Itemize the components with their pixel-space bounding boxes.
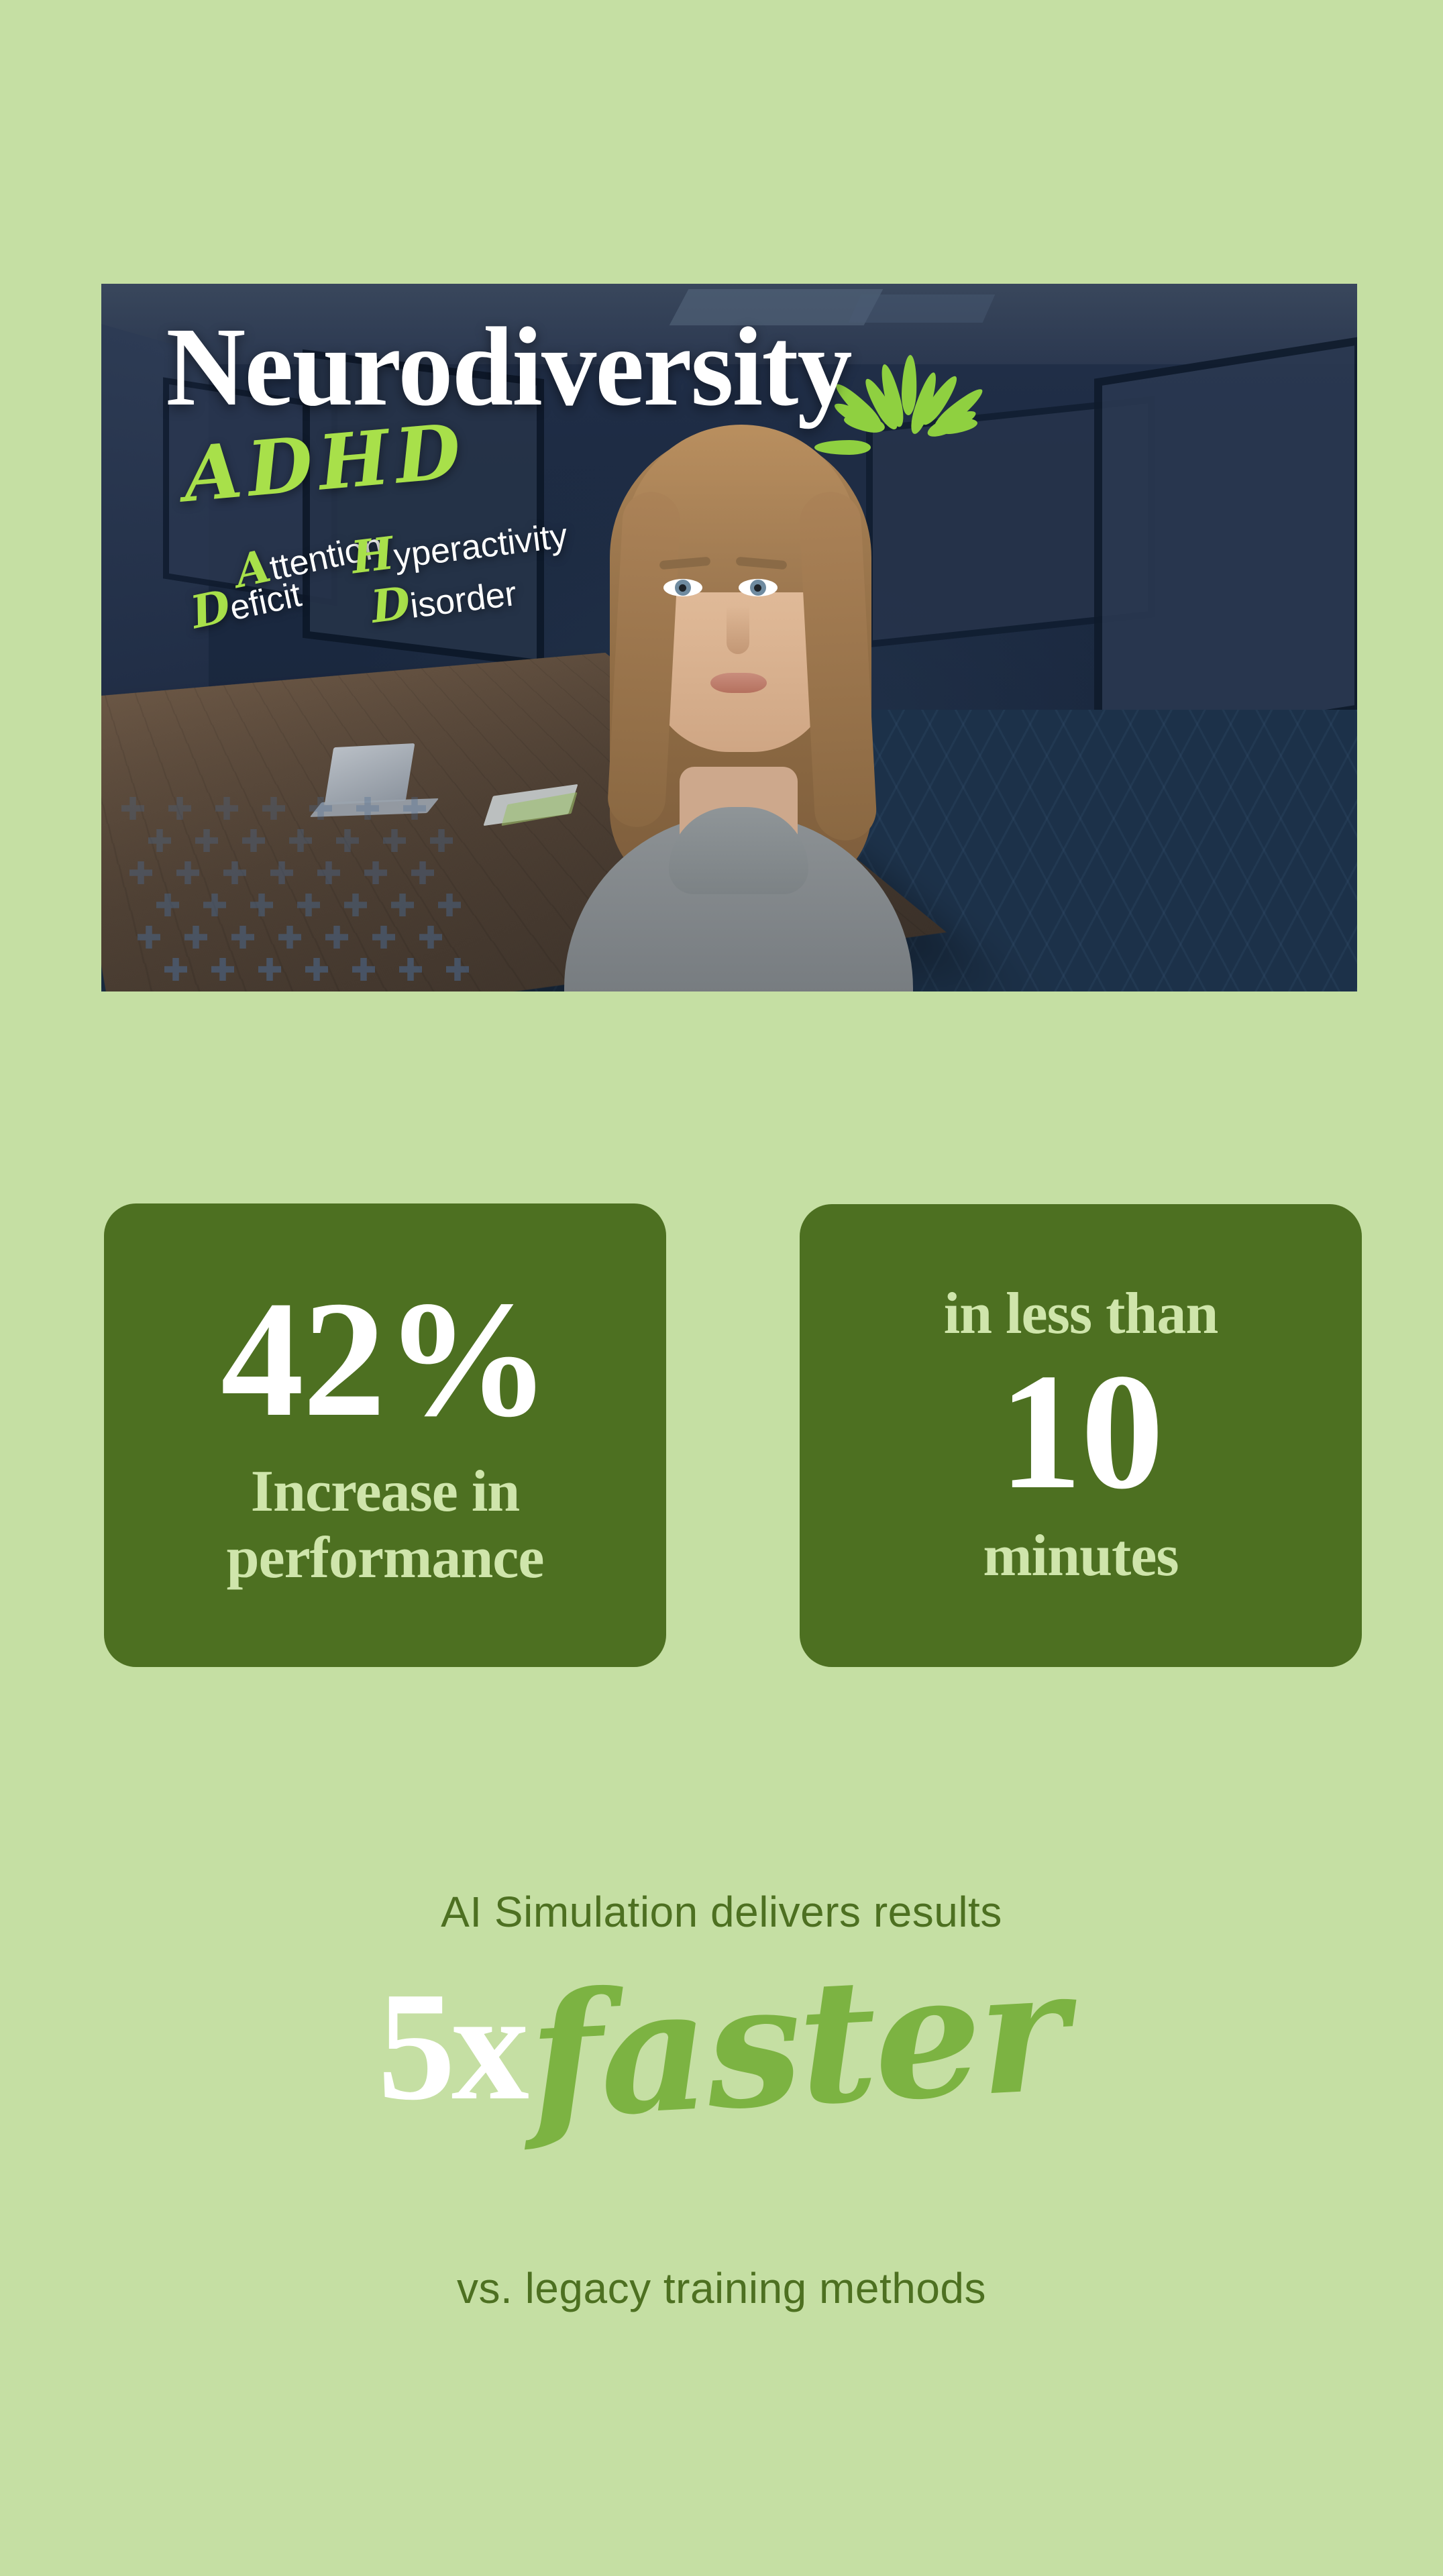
carpet-cross: [383, 829, 406, 852]
carpet-cross: [325, 926, 348, 949]
hero-subtitle-script: ADHD: [180, 414, 470, 513]
carpet-cross: [262, 797, 285, 820]
carpet-cross-pattern: [121, 790, 470, 991]
carpet-cross: [352, 958, 375, 981]
carpet-cross: [184, 926, 207, 949]
carpet-cross: [138, 926, 160, 949]
carpet-cross: [250, 894, 273, 916]
avatar: [531, 358, 947, 991]
hero-keyword-disorder-cap: D: [368, 576, 413, 633]
avatar-pupil-left: [679, 584, 686, 592]
carpet-cross: [356, 797, 379, 820]
stat-label-performance: Increase in performance: [227, 1459, 544, 1591]
carpet-cross: [278, 926, 301, 949]
carpet-cross: [211, 958, 234, 981]
carpet-cross: [411, 861, 434, 884]
carpet-cross: [129, 861, 152, 884]
carpet-cross: [391, 894, 414, 916]
hero-keyword-hyperactivity-cap: H: [348, 527, 396, 584]
footer-highlight: 5x faster: [0, 1969, 1443, 2138]
wall-frame-right-2: [1094, 336, 1357, 754]
footer-highlight-multiplier: 5x: [378, 1969, 525, 2125]
carpet-cross: [305, 958, 328, 981]
carpet-cross: [156, 894, 179, 916]
stat-label-time: minutes: [983, 1523, 1178, 1590]
carpet-cross: [309, 797, 332, 820]
footer-kicker: AI Simulation delivers results: [0, 1887, 1443, 1937]
avatar-eye-right: [739, 579, 778, 596]
carpet-cross: [195, 829, 218, 852]
stat-value-performance: 42%: [221, 1279, 549, 1439]
stat-label-performance-line1: Increase in: [251, 1459, 519, 1524]
carpet-cross: [242, 829, 265, 852]
carpet-cross: [446, 958, 469, 981]
carpet-cross: [168, 797, 191, 820]
carpet-cross: [364, 861, 387, 884]
stat-card-performance: 42% Increase in performance: [104, 1203, 666, 1667]
carpet-cross: [438, 894, 461, 916]
stat-prelabel-time: in less than: [944, 1281, 1218, 1348]
infographic-page: Neurodiversity ADHD Attention Deficit Hy…: [0, 0, 1443, 2576]
stat-label-performance-line2: performance: [227, 1525, 544, 1591]
carpet-cross: [223, 861, 246, 884]
stat-value-time: 10: [999, 1352, 1163, 1511]
avatar-mouth: [710, 673, 767, 693]
carpet-cross: [399, 958, 422, 981]
carpet-cross: [430, 829, 453, 852]
carpet-cross: [317, 861, 340, 884]
carpet-cross: [419, 926, 442, 949]
footer-subline: vs. legacy training methods: [0, 2263, 1443, 2313]
carpet-cross: [336, 829, 359, 852]
carpet-cross: [372, 926, 395, 949]
carpet-cross: [344, 894, 367, 916]
avatar-pupil-right: [754, 584, 761, 592]
carpet-cross: [215, 797, 238, 820]
carpet-cross: [203, 894, 226, 916]
hero-keyword-deficit-rest: eficit: [226, 575, 305, 628]
carpet-cross: [121, 797, 144, 820]
carpet-cross: [258, 958, 281, 981]
hero-image: Neurodiversity ADHD Attention Deficit Hy…: [101, 284, 1357, 991]
footer-highlight-script: faster: [525, 1945, 1069, 2142]
hero-title: Neurodiversity: [166, 311, 851, 423]
carpet-cross: [403, 797, 426, 820]
avatar-iris-right: [750, 580, 766, 596]
avatar-nose: [727, 606, 749, 654]
carpet-cross: [270, 861, 293, 884]
carpet-cross: [297, 894, 320, 916]
stat-card-time: in less than 10 minutes: [800, 1204, 1362, 1667]
carpet-cross: [231, 926, 254, 949]
carpet-cross: [148, 829, 171, 852]
carpet-cross: [289, 829, 312, 852]
avatar-iris-left: [675, 580, 691, 596]
avatar-eye-left: [663, 579, 702, 596]
carpet-cross: [176, 861, 199, 884]
carpet-cross: [164, 958, 187, 981]
